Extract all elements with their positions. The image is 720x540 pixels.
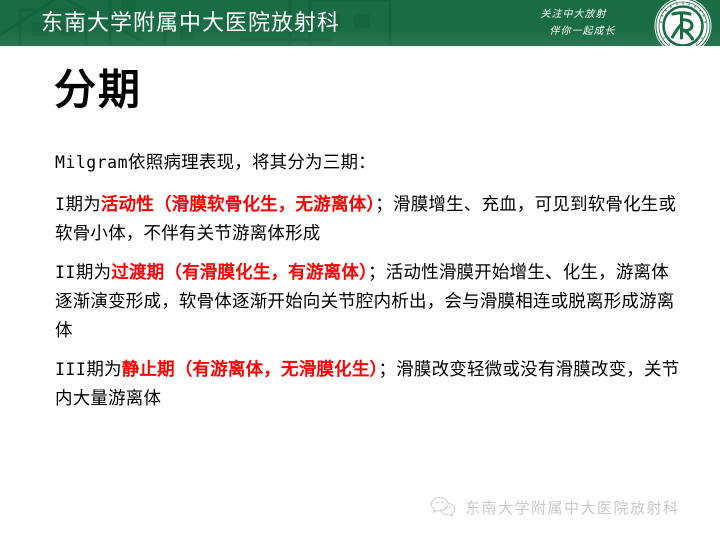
hospital-seal-logo-icon (654, 0, 712, 46)
text-segment: 期为 (86, 359, 121, 379)
page-title: 分期 (54, 62, 142, 118)
text-segment: 静止期（有游离体，无滑膜化生） (122, 359, 379, 379)
header-tagline-line1: 关注中大放射 (511, 6, 636, 23)
paragraph-stage-1: I期为活动性（滑膜软骨化生，无游离体）；滑膜增生、充血，可见到软骨化生或软骨小体… (55, 190, 685, 248)
text-segment: 过渡期（有滑膜化生，有游离体） (111, 262, 368, 282)
text-segment: II (55, 263, 76, 282)
footer: 东南大学附属中大医院放射科 (430, 496, 680, 518)
header-bar: 东南大学附属中大医院放射科 关注中大放射 伴你一起成长 (0, 0, 720, 46)
footer-label: 东南大学附属中大医院放射科 (465, 497, 680, 518)
paragraph-stage-2: II期为过渡期（有滑膜化生，有游离体）；活动性滑膜开始增生、化生，游离体逐渐演变… (55, 258, 685, 345)
text-segment: I (55, 195, 65, 214)
paragraph-stage-3: III期为静止期（有游离体，无滑膜化生）；滑膜改变轻微或没有滑膜改变，关节内大量… (55, 355, 685, 413)
text-segment: 活动性（滑膜软骨化生，无游离体） (101, 194, 375, 214)
text-segment: 期为 (76, 262, 111, 282)
slide-body: Milgram依照病理表现，将其分为三期： I期为活动性（滑膜软骨化生，无游离体… (55, 148, 685, 423)
header-title: 东南大学附属中大医院放射科 (41, 9, 340, 37)
text-segment: III (55, 360, 86, 379)
text-segment: Milgram (55, 153, 128, 172)
text-segment: 期为 (65, 194, 100, 214)
paragraph-intro: Milgram依照病理表现，将其分为三期： (55, 148, 685, 177)
text-segment: 依照病理表现，将其分为三期： (128, 152, 376, 172)
wechat-icon (430, 496, 456, 518)
header-tagline-line2: 伴你一起成长 (511, 23, 636, 40)
header-tagline: 关注中大放射 伴你一起成长 (511, 6, 636, 40)
